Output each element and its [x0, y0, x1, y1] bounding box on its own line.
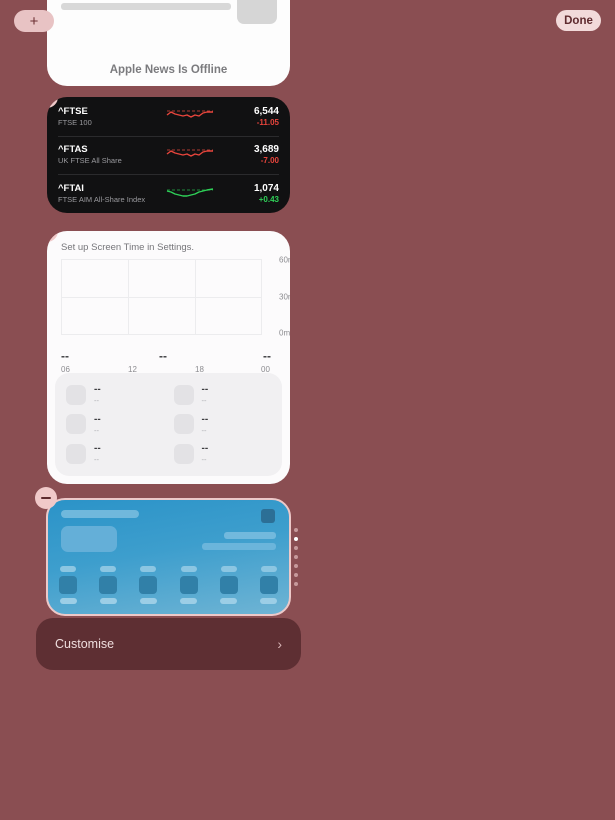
stock-row[interactable]: ^FTAS UK FTSE All Share 3,689 -7.00	[47, 136, 290, 175]
stock-name: UK FTSE All Share	[58, 156, 153, 165]
app-name: --	[94, 415, 101, 425]
app-icon-placeholder	[174, 414, 194, 434]
app-name: --	[94, 444, 101, 454]
app-name: --	[202, 385, 209, 395]
stock-change: -7.00	[227, 156, 279, 166]
list-item[interactable]: ----	[61, 410, 169, 440]
page-dot[interactable]	[294, 555, 298, 559]
chart-ytick: 60m	[279, 256, 290, 265]
remove-widget-screen-time-button[interactable]	[47, 231, 58, 242]
page-dot[interactable]	[294, 546, 298, 550]
list-item[interactable]: ----	[169, 410, 277, 440]
page-dot[interactable]	[294, 582, 298, 586]
stock-identity: ^FTAS UK FTSE All Share	[58, 144, 153, 165]
weather-card[interactable]	[46, 498, 291, 616]
weather-detail-placeholder	[202, 543, 276, 550]
app-name: --	[202, 415, 209, 425]
widget-weather-selected[interactable]	[46, 498, 291, 616]
stock-row[interactable]: ^FTAI FTSE AIM All-Share Index 1,074 +0.…	[47, 174, 290, 213]
stock-change: -11.05	[227, 118, 279, 128]
stock-symbol: ^FTAI	[58, 183, 153, 195]
stock-sparkline-up	[153, 183, 227, 203]
widget-edit-screen: + Done Apple News Is Offline ^FTSE FTSE …	[0, 0, 615, 820]
chart-ytick: 0m	[279, 329, 290, 338]
chevron-right-icon: ›	[277, 636, 282, 652]
summary-value: --	[61, 349, 69, 363]
minus-icon	[47, 97, 52, 98]
stock-change: +0.43	[227, 195, 279, 205]
summary-value: --	[159, 349, 167, 363]
stock-symbol: ^FTSE	[58, 106, 153, 118]
app-name: --	[94, 385, 101, 395]
stock-symbol: ^FTAS	[58, 144, 153, 156]
customise-button[interactable]: Customise ›	[36, 618, 301, 670]
forecast-hour	[139, 566, 157, 604]
list-item[interactable]: ----	[169, 439, 277, 469]
app-icon-placeholder	[66, 414, 86, 434]
stock-name: FTSE AIM All-Share Index	[58, 195, 153, 204]
app-duration: --	[202, 427, 209, 435]
news-thumbnail-placeholder	[237, 0, 277, 24]
stock-values: 3,689 -7.00	[227, 143, 279, 166]
screen-time-summary: -- -- --	[47, 349, 290, 367]
forecast-hour	[99, 566, 117, 604]
done-label: Done	[564, 15, 593, 27]
screen-time-app-list: ---- ---- ---- ---- ----	[55, 373, 282, 476]
screen-time-headline: Set up Screen Time in Settings.	[61, 242, 194, 253]
forecast-hour	[59, 566, 77, 604]
stock-sparkline-down	[153, 145, 227, 165]
app-name: --	[202, 444, 209, 454]
stock-sparkline-down	[153, 106, 227, 126]
app-icon-placeholder	[66, 385, 86, 405]
page-dot-active[interactable]	[294, 537, 298, 541]
list-item[interactable]: ----	[169, 380, 277, 410]
list-item[interactable]: ----	[61, 380, 169, 410]
stock-values: 6,544 -11.05	[227, 105, 279, 128]
stock-price: 3,689	[227, 143, 279, 156]
stock-name: FTSE 100	[58, 118, 153, 127]
chart-ytick: 30m	[279, 293, 290, 302]
summary-value: --	[263, 349, 271, 363]
widget-screen-time[interactable]: Set up Screen Time in Settings. 60m 30m …	[47, 231, 290, 484]
widget-apple-news[interactable]: Apple News Is Offline	[47, 0, 290, 86]
widget-page-indicator[interactable]	[294, 528, 298, 586]
widget-stocks[interactable]: ^FTSE FTSE 100 6,544 -11.05 ^FTAS	[47, 97, 290, 213]
page-dot[interactable]	[294, 573, 298, 577]
stock-price: 6,544	[227, 105, 279, 118]
forecast-hour	[180, 566, 198, 604]
app-duration: --	[202, 456, 209, 464]
forecast-hour	[260, 566, 278, 604]
app-duration: --	[94, 456, 101, 464]
stock-identity: ^FTAI FTSE AIM All-Share Index	[58, 183, 153, 204]
minus-icon	[47, 231, 52, 232]
forecast-hour	[220, 566, 238, 604]
stock-price: 1,074	[227, 182, 279, 195]
news-headline-placeholder	[61, 3, 231, 10]
app-duration: --	[94, 427, 101, 435]
app-icon-placeholder	[174, 385, 194, 405]
stock-values: 1,074 +0.43	[227, 182, 279, 205]
app-duration: --	[202, 397, 209, 405]
weather-temperature-placeholder	[61, 526, 117, 552]
app-icon-placeholder	[174, 444, 194, 464]
weather-condition-icon	[261, 509, 275, 523]
weather-hourly-forecast	[59, 566, 278, 604]
page-dot[interactable]	[294, 528, 298, 532]
add-widget-button[interactable]: +	[14, 10, 54, 32]
list-item[interactable]: ----	[61, 439, 169, 469]
screen-time-chart: 60m 30m 0m 06 12 18 00	[61, 259, 262, 335]
plus-icon: +	[30, 14, 39, 29]
remove-widget-weather-button[interactable]	[35, 487, 57, 509]
stock-identity: ^FTSE FTSE 100	[58, 106, 153, 127]
page-dot[interactable]	[294, 564, 298, 568]
app-duration: --	[94, 397, 101, 405]
customise-label: Customise	[55, 637, 277, 651]
minus-icon	[41, 497, 51, 499]
weather-location-placeholder	[61, 510, 139, 518]
news-offline-text: Apple News Is Offline	[47, 64, 290, 76]
stock-row[interactable]: ^FTSE FTSE 100 6,544 -11.05	[47, 97, 290, 136]
app-icon-placeholder	[66, 444, 86, 464]
done-button[interactable]: Done	[556, 10, 601, 31]
weather-detail-placeholder	[224, 532, 276, 539]
